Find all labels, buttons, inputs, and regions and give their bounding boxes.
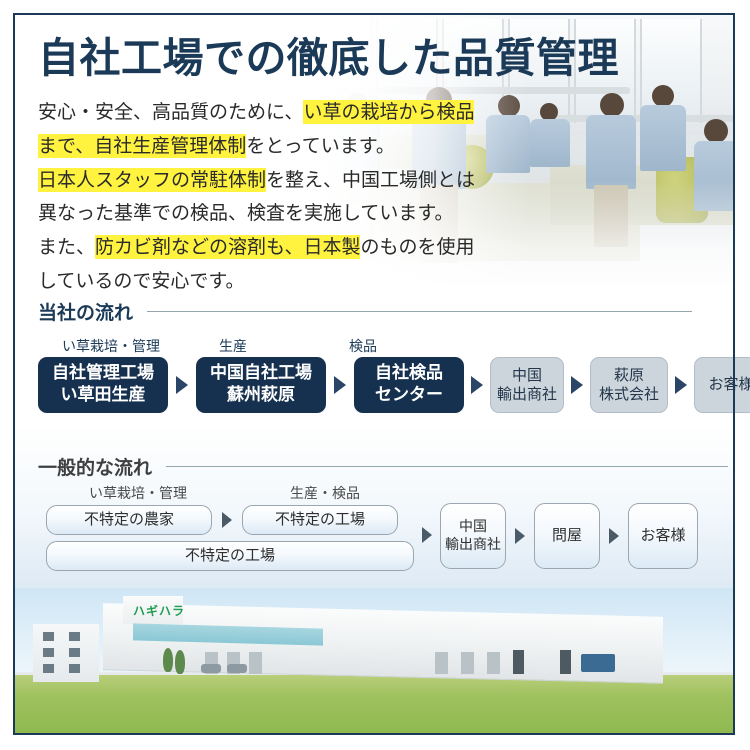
own-flow-row: 自社管理工場 い草田生産 中国自社工場 蘇州萩原 自社検品 センター 中国 輸出… bbox=[38, 357, 750, 413]
parked-car bbox=[227, 664, 247, 673]
arrow-icon bbox=[609, 528, 619, 544]
arrow-icon bbox=[222, 512, 232, 528]
flow-box-inspect-center[interactable]: 自社検品 センター bbox=[354, 357, 464, 413]
tree bbox=[175, 650, 185, 674]
flow-box-hagihara[interactable]: 萩原 株式会社 bbox=[590, 357, 668, 413]
page-title: 自社工場での徹底した品質管理 bbox=[38, 36, 619, 80]
flow-box-unspecified-farm[interactable]: 不特定の農家 bbox=[46, 505, 212, 535]
truck bbox=[581, 654, 615, 672]
factory-building bbox=[103, 603, 663, 684]
arrow-icon bbox=[176, 376, 188, 394]
general-flow-heading-text: 一般的な流れ bbox=[38, 453, 152, 480]
body-text: 安心・安全、高品質のために、 bbox=[38, 101, 303, 123]
flow-box-customer[interactable]: お客様 bbox=[694, 357, 750, 413]
flow-box-wholesaler[interactable]: 問屋 bbox=[534, 503, 600, 569]
loading-bay bbox=[560, 650, 571, 674]
body-text: のものを使用 bbox=[360, 236, 474, 258]
own-flow-heading-text: 当社の流れ bbox=[38, 298, 133, 325]
general-flow-caption-2: 生産・検品 bbox=[250, 483, 400, 503]
factory-door bbox=[461, 652, 474, 674]
arrow-icon bbox=[471, 376, 483, 394]
flow-box-own-factory[interactable]: 自社管理工場 い草田生産 bbox=[38, 357, 168, 413]
flow-box-unspecified-factory[interactable]: 不特定の工場 bbox=[242, 505, 398, 535]
flow-box-china-factory[interactable]: 中国自社工場 蘇州萩原 bbox=[196, 357, 326, 413]
body-text: しているので安心です。 bbox=[38, 270, 245, 292]
parked-car bbox=[201, 664, 221, 673]
body-line-4: 異なった基準での検品、検査を実施しています。 bbox=[38, 197, 488, 231]
general-flow-caption-1: い草栽培・管理 bbox=[58, 483, 218, 503]
arrow-icon bbox=[334, 376, 346, 394]
infographic-page: 自社工場での徹底した品質管理 安心・安全、高品質のために、い草の栽培から検品 ま… bbox=[0, 0, 750, 750]
own-flow-caption-1: い草栽培・管理 bbox=[38, 336, 184, 356]
factory-door bbox=[249, 652, 262, 674]
flow-box-exporter-general[interactable]: 中国 輸出商社 bbox=[440, 503, 506, 569]
own-flow-heading: 当社の流れ bbox=[38, 298, 692, 325]
factory-photo: ハギハラ bbox=[15, 588, 735, 735]
body-text: をとっています。 bbox=[246, 135, 395, 157]
highlight-text: 自社生産管理体制 bbox=[94, 134, 246, 158]
flow-box-exporter[interactable]: 中国 輸出商社 bbox=[490, 357, 564, 413]
body-paragraph: 安心・安全、高品質のために、い草の栽培から検品 まで、自社生産管理体制をとってい… bbox=[38, 96, 488, 299]
heading-rule bbox=[147, 311, 692, 312]
body-text: また、 bbox=[38, 236, 95, 258]
loading-bay bbox=[513, 650, 524, 674]
factory-door bbox=[487, 652, 500, 674]
arrow-icon bbox=[422, 527, 432, 543]
factory-door bbox=[435, 652, 448, 674]
body-line-2: まで、自社生産管理体制をとっています。 bbox=[38, 130, 488, 164]
office-building bbox=[33, 624, 99, 682]
tree bbox=[163, 648, 173, 672]
building-logo: ハギハラ bbox=[133, 602, 185, 619]
highlight-text: 防カビ剤などの溶剤も、 bbox=[95, 235, 303, 259]
general-flow-heading: 一般的な流れ bbox=[38, 453, 728, 480]
own-flow-caption-2: 生産 bbox=[170, 336, 296, 356]
lawn bbox=[15, 675, 735, 735]
highlight-text: まで、 bbox=[38, 134, 94, 158]
flow-box-unspecified-factory-wide[interactable]: 不特定の工場 bbox=[46, 541, 414, 571]
arrow-icon bbox=[571, 376, 583, 394]
general-flow-tail-row: 中国 輸出商社 問屋 お客様 bbox=[440, 503, 698, 569]
heading-rule bbox=[166, 466, 728, 467]
highlight-text: 日本人スタッフの常駐体制 bbox=[38, 168, 266, 192]
general-flow-top-row: 不特定の農家 不特定の工場 bbox=[46, 505, 398, 535]
highlight-text: 日本製 bbox=[303, 235, 360, 259]
own-flow-caption-3: 検品 bbox=[300, 336, 426, 356]
body-line-3: 日本人スタッフの常駐体制を整え、中国工場側とは bbox=[38, 164, 488, 198]
highlight-text: い草の栽培から検品 bbox=[303, 100, 474, 124]
arrow-icon bbox=[675, 376, 687, 394]
body-line-5: また、防カビ剤などの溶剤も、日本製のものを使用 bbox=[38, 231, 488, 265]
body-text: 異なった基準での検品、検査を実施しています。 bbox=[38, 202, 454, 224]
body-line-1: 安心・安全、高品質のために、い草の栽培から検品 bbox=[38, 96, 488, 130]
arrow-icon bbox=[515, 528, 525, 544]
flow-box-customer-general[interactable]: お客様 bbox=[628, 503, 698, 569]
body-line-6: しているので安心です。 bbox=[38, 265, 488, 299]
body-text: を整え、中国工場側とは bbox=[266, 169, 475, 191]
general-flow-bottom-row: 不特定の工場 bbox=[46, 541, 414, 571]
